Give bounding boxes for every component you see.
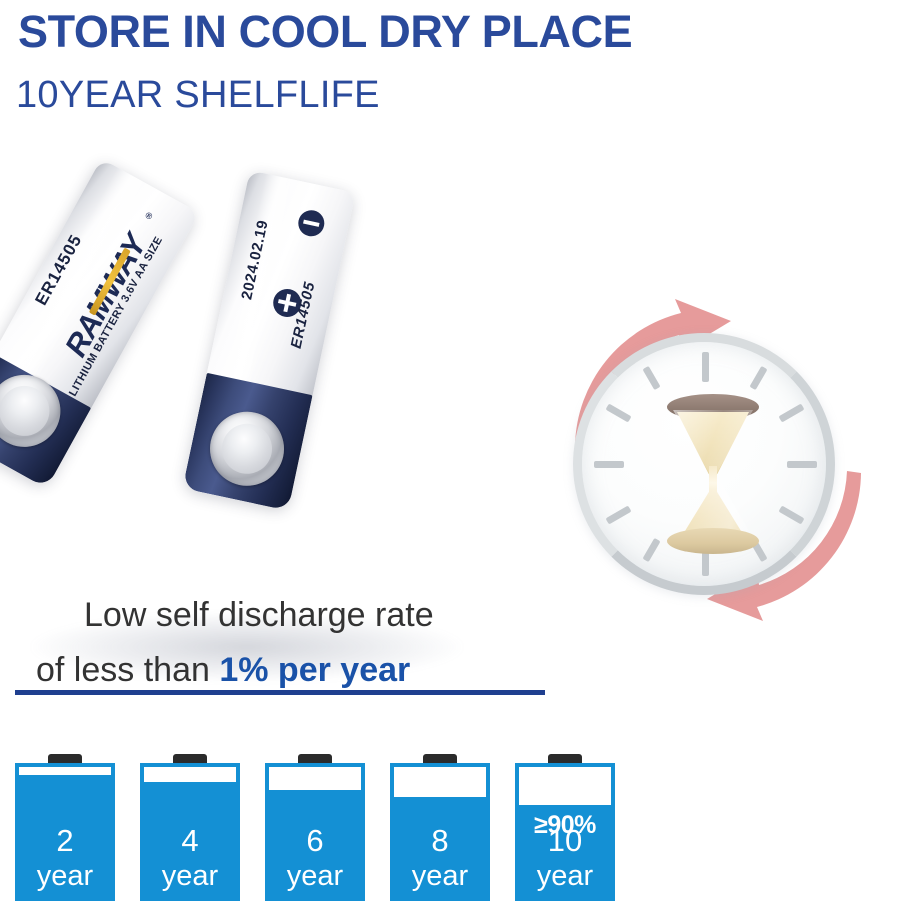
battery-shell: 6year [265, 763, 365, 901]
clock-tick [702, 352, 709, 382]
battery-depleted-region [144, 767, 236, 782]
battery-shell: 8year [390, 763, 490, 901]
clock-tick [642, 366, 660, 390]
battery-shell: 2year [15, 763, 115, 901]
claim-highlight: 1% per year [219, 651, 410, 689]
shelf-life-clock-graphic [545, 285, 895, 635]
hourglass-bottom-cap [667, 528, 759, 554]
battery-depleted-region [19, 767, 111, 775]
battery-year-number: 8 [390, 823, 490, 859]
battery-bar: 6year [265, 754, 365, 901]
hourglass-icon [667, 394, 759, 552]
capacity-bar-chart: 2year4year6year8year≥90%10year [0, 738, 601, 910]
hourglass-glass [673, 410, 753, 538]
battery-product-photo: ER14505 RAMWAY ® LITHIUM BATTERY 3.6V AA… [10, 160, 530, 560]
clock-tick [778, 505, 804, 524]
battery-year-number: 2 [15, 823, 115, 859]
battery-shell: 4year [140, 763, 240, 901]
clock-tick [749, 366, 767, 390]
clock-tick [642, 538, 660, 562]
minus-bar [303, 220, 319, 227]
battery-bar: ≥90%10year [515, 754, 615, 901]
clock-tick [594, 461, 624, 468]
terminal-inner-left [0, 377, 58, 445]
clock-tick [778, 403, 804, 422]
page-title: STORE IN COOL DRY PLACE [18, 6, 632, 58]
battery-depleted-region [269, 767, 361, 790]
battery-year-number: 4 [140, 823, 240, 859]
battery-year-unit: year [15, 860, 115, 893]
battery-year-number: 6 [265, 823, 365, 859]
battery-year-unit: year [390, 860, 490, 893]
clock-face [573, 333, 835, 595]
section-divider [15, 690, 545, 695]
clock-tick [605, 403, 631, 422]
battery-year-unit: year [515, 860, 615, 893]
terminal-inner-right [217, 419, 276, 478]
infographic-page: STORE IN COOL DRY PLACE 10YEAR SHELFLIFE… [0, 0, 901, 910]
battery-year-unit: year [265, 860, 365, 893]
page-subtitle: 10YEAR SHELFLIFE [16, 74, 380, 117]
claim-line-1: Low self discharge rate [84, 596, 434, 635]
claim-line-2: of less than 1% per year [36, 651, 410, 690]
clock-tick [605, 505, 631, 524]
battery-cell-right: 2024.02.19 ER14505 [182, 170, 355, 510]
battery-shell: ≥90%10year [515, 763, 615, 901]
battery-year-unit: year [140, 860, 240, 893]
battery-year-number: 10 [515, 823, 615, 859]
battery-cell-left: ER14505 RAMWAY ® LITHIUM BATTERY 3.6V AA… [0, 159, 199, 489]
battery-bar: 4year [140, 754, 240, 901]
battery-depleted-region [519, 767, 611, 805]
clock-tick [787, 461, 817, 468]
claim-line-2-prefix: of less than [36, 651, 219, 689]
battery-depleted-region [394, 767, 486, 797]
battery-bar: 8year [390, 754, 490, 901]
battery-bar: 2year [15, 754, 115, 901]
